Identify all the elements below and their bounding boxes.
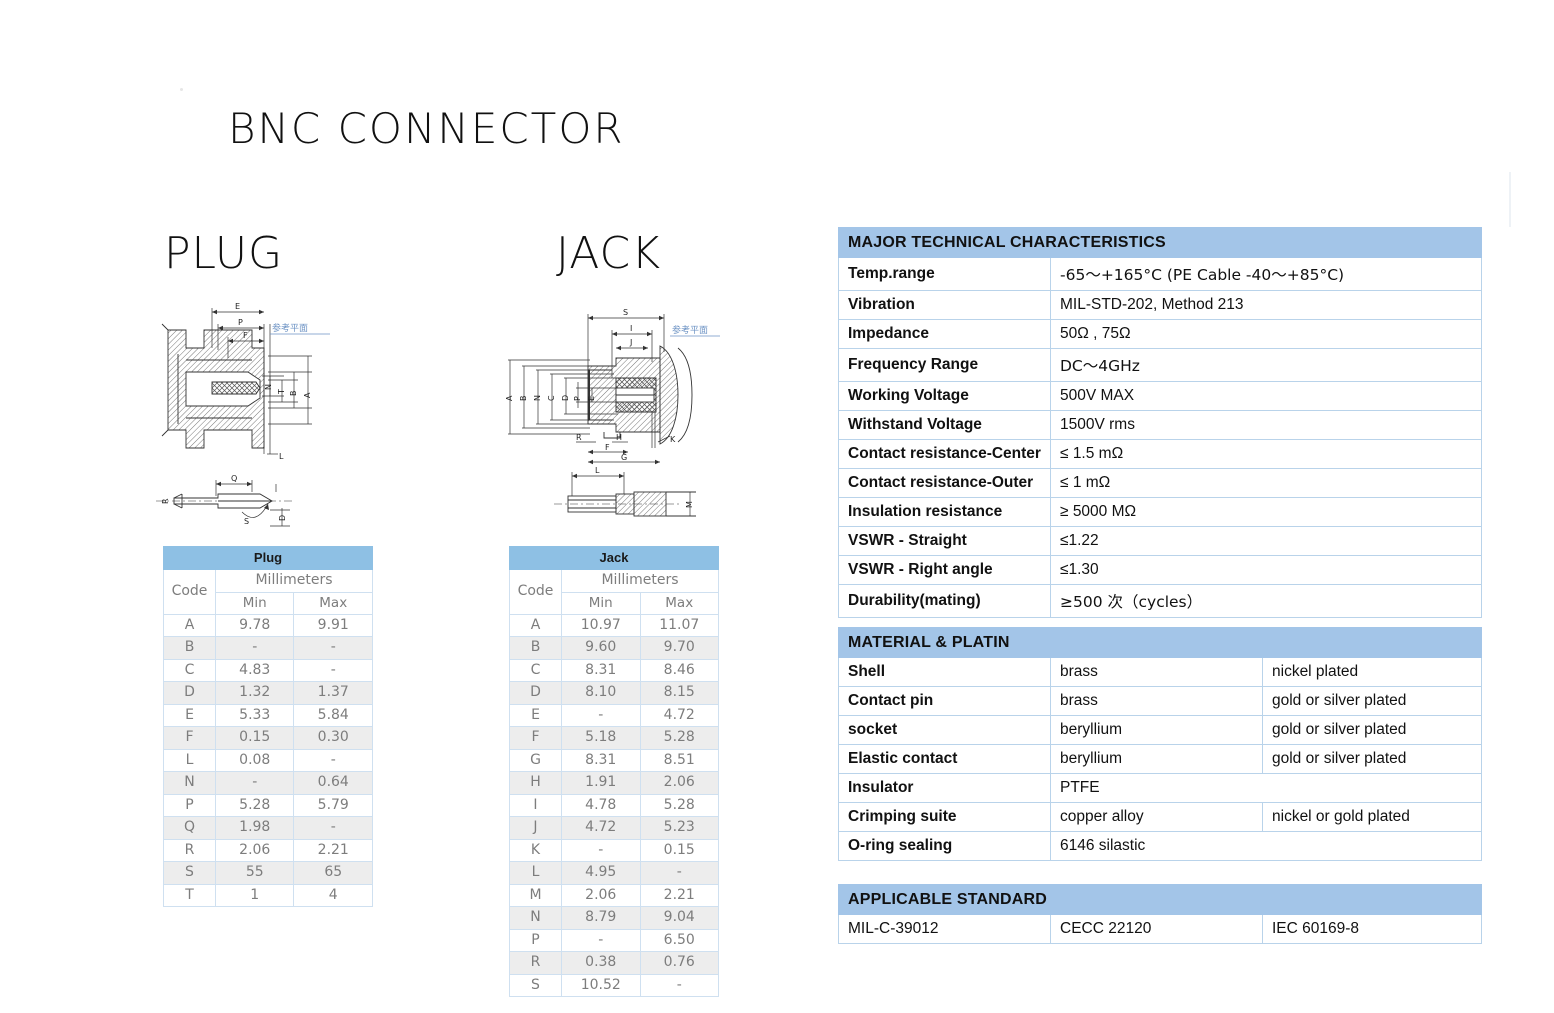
table-row: S5565: [164, 862, 373, 885]
material-value: copper alloy: [1051, 803, 1263, 832]
plug-cross-section-drawing: E P F L N T B A 参考平面: [152, 298, 352, 478]
jack-cell-max: 5.28: [640, 727, 719, 750]
jack-cell-min: 8.79: [562, 907, 641, 930]
material-row: Elastic contactberylliumgold or silver p…: [839, 745, 1482, 774]
table-row: A10.9711.07: [510, 614, 719, 637]
standard-value: CECC 22120: [1051, 915, 1263, 944]
jack-col-min: Min: [562, 592, 641, 614]
jack-cell-max: 8.46: [640, 659, 719, 682]
jack-cell-min: -: [562, 704, 641, 727]
plating-value: nickel or gold plated: [1263, 803, 1482, 832]
spec-row: Contact resistance-Center≤ 1.5 mΩ: [839, 440, 1482, 469]
plug-reference-plane-note: 参考平面: [272, 322, 308, 334]
jack-cell-code: A: [510, 614, 562, 637]
jack-col-unit: Millimeters: [562, 570, 719, 593]
plug-col-max: Max: [294, 592, 373, 614]
jack-cell-max: -: [640, 974, 719, 997]
plug-cell-code: A: [164, 614, 216, 637]
material-value: beryllium: [1051, 745, 1263, 774]
material-name: Shell: [839, 658, 1051, 687]
corner-artifact: [180, 88, 183, 91]
plug-col-unit: Millimeters: [216, 570, 373, 593]
table-row: B--: [164, 637, 373, 660]
material-name: socket: [839, 716, 1051, 745]
material-row: Contact pinbrassgold or silver plated: [839, 687, 1482, 716]
material-name: Crimping suite: [839, 803, 1051, 832]
spec-value: ≤ 1.5 mΩ: [1051, 440, 1482, 469]
jack-section-heading: JACK: [556, 228, 661, 279]
spec-row: Contact resistance-Outer≤ 1 mΩ: [839, 469, 1482, 498]
plug-pin-label-S: S: [244, 517, 249, 526]
plug-section-heading: PLUG: [164, 228, 283, 279]
material-row: socketberylliumgold or silver plated: [839, 716, 1482, 745]
jack-cell-max: 5.28: [640, 794, 719, 817]
plug-pin-label-D: D: [278, 515, 287, 521]
material-value: brass: [1051, 658, 1263, 687]
plug-dim-label-N: N: [264, 384, 273, 390]
spec-key: Frequency Range: [839, 349, 1051, 382]
standard-value: MIL-C-39012: [839, 915, 1051, 944]
jack-cell-code: G: [510, 749, 562, 772]
jack-cell-max: 11.07: [640, 614, 719, 637]
jack-cell-max: 0.76: [640, 952, 719, 975]
jack-cell-max: 2.21: [640, 884, 719, 907]
table-row: P5.285.79: [164, 794, 373, 817]
spec-key: Contact resistance-Outer: [839, 469, 1051, 498]
spec-value: DC～4GHz: [1051, 349, 1482, 382]
table-row: F5.185.28: [510, 727, 719, 750]
plug-dim-label-L: L: [279, 452, 284, 461]
plug-col-code: Code: [164, 570, 216, 614]
jack-cell-min: 1.91: [562, 772, 641, 795]
table-row: T14: [164, 884, 373, 907]
jack-table-title: Jack: [510, 547, 719, 570]
table-row: R2.062.21: [164, 839, 373, 862]
spec-value: MIL-STD-202, Method 213: [1051, 291, 1482, 320]
jack-cell-code: M: [510, 884, 562, 907]
plug-cell-max: -: [294, 817, 373, 840]
jack-cell-min: 5.18: [562, 727, 641, 750]
jack-cell-code: J: [510, 817, 562, 840]
jack-cell-code: E: [510, 704, 562, 727]
table-row: A9.789.91: [164, 614, 373, 637]
jack-cell-code: K: [510, 839, 562, 862]
plug-cell-code: P: [164, 794, 216, 817]
plating-value: gold or silver plated: [1263, 687, 1482, 716]
jack-cell-max: -: [640, 862, 719, 885]
standard-band-label: APPLICABLE STANDARD: [839, 885, 1482, 915]
spec-key: VSWR - Right angle: [839, 556, 1051, 585]
jack-socket-detail-drawing: L M: [540, 466, 710, 524]
spec-value: 1500V rms: [1051, 411, 1482, 440]
jack-cell-max: 2.06: [640, 772, 719, 795]
major-technical-characteristics-table: MAJOR TECHNICAL CHARACTERISTICS Temp.ran…: [838, 227, 1482, 618]
jack-dim-label-J: J: [629, 338, 632, 347]
plug-cell-max: 65: [294, 862, 373, 885]
spec-key: VSWR - Straight: [839, 527, 1051, 556]
plug-cell-max: 9.91: [294, 614, 373, 637]
material-row: O-ring sealing6146 silastic: [839, 832, 1482, 861]
jack-dim-label-I: I: [630, 324, 632, 333]
spec-row: VSWR - Right angle≤1.30: [839, 556, 1482, 585]
spec-value: -65～+165°C (PE Cable -40～+85°C): [1051, 258, 1482, 291]
plug-dim-label-A: A: [303, 392, 312, 398]
plug-col-min: Min: [216, 592, 294, 614]
jack-dim-label-C: C: [547, 395, 556, 401]
jack-cell-max: 4.72: [640, 704, 719, 727]
jack-cross-section-drawing: S I J R H F G K A B N C D P E 参考平面: [492, 302, 722, 470]
plug-cell-min: 5.28: [216, 794, 294, 817]
material-name: O-ring sealing: [839, 832, 1051, 861]
material-name: Contact pin: [839, 687, 1051, 716]
plug-cell-max: 1.37: [294, 682, 373, 705]
spec-value: ≥500 次（cycles）: [1051, 585, 1482, 618]
jack-cell-code: B: [510, 637, 562, 660]
table-row: E5.335.84: [164, 704, 373, 727]
material-band-label: MATERIAL & PLATIN: [839, 628, 1482, 658]
standard-value: IEC 60169-8: [1263, 915, 1482, 944]
jack-cell-min: -: [562, 839, 641, 862]
table-row: L0.08-: [164, 749, 373, 772]
spec-key: Durability(mating): [839, 585, 1051, 618]
plug-cell-code: F: [164, 727, 216, 750]
plug-cell-min: 0.08: [216, 749, 294, 772]
plug-cell-min: -: [216, 637, 294, 660]
spec-value: ≥ 5000 MΩ: [1051, 498, 1482, 527]
jack-cell-min: 10.97: [562, 614, 641, 637]
spec-row: Insulation resistance≥ 5000 MΩ: [839, 498, 1482, 527]
plug-cell-max: -: [294, 637, 373, 660]
plug-cell-min: 5.33: [216, 704, 294, 727]
table-row: S10.52-: [510, 974, 719, 997]
spec-row: Withstand Voltage1500V rms: [839, 411, 1482, 440]
jack-cell-max: 0.15: [640, 839, 719, 862]
jack-dim-label-A: A: [505, 395, 514, 401]
plug-cell-code: E: [164, 704, 216, 727]
plug-cell-code: T: [164, 884, 216, 907]
material-platin-table: MATERIAL & PLATIN Shellbrassnickel plate…: [838, 627, 1482, 861]
table-row: I4.785.28: [510, 794, 719, 817]
jack-cell-code: L: [510, 862, 562, 885]
standard-row: MIL-C-39012CECC 22120IEC 60169-8: [839, 915, 1482, 944]
jack-reference-plane-note: 参考平面: [672, 324, 708, 336]
jack-cell-min: 8.31: [562, 659, 641, 682]
plug-dim-label-E: E: [235, 302, 240, 311]
spec-row: VibrationMIL-STD-202, Method 213: [839, 291, 1482, 320]
jack-cell-min: 0.38: [562, 952, 641, 975]
jack-cell-max: 9.70: [640, 637, 719, 660]
jack-dimensions-table: Jack Code Millimeters Min Max A10.9711.0…: [509, 546, 719, 997]
material-row: InsulatorPTFE: [839, 774, 1482, 803]
plug-cell-code: Q: [164, 817, 216, 840]
plug-cell-max: 4: [294, 884, 373, 907]
table-row: J4.725.23: [510, 817, 719, 840]
plug-dim-label-T: T: [277, 389, 286, 395]
plug-pin-label-R: R: [161, 498, 170, 504]
spec-row: Impedance50Ω , 75Ω: [839, 320, 1482, 349]
jack-cell-min: 9.60: [562, 637, 641, 660]
spec-row: VSWR - Straight≤1.22: [839, 527, 1482, 556]
spec-value: ≤ 1 mΩ: [1051, 469, 1482, 498]
jack-dim-label-F: F: [605, 443, 610, 452]
spec-value: ≤1.30: [1051, 556, 1482, 585]
jack-table-body: A10.9711.07B9.609.70C8.318.46D8.108.15E-…: [510, 614, 719, 997]
plug-cell-min: 1.32: [216, 682, 294, 705]
jack-socket-label-M: M: [685, 501, 694, 508]
jack-col-code: Code: [510, 570, 562, 614]
jack-cell-min: 8.10: [562, 682, 641, 705]
plug-cell-code: C: [164, 659, 216, 682]
jack-cell-min: 4.72: [562, 817, 641, 840]
spec-key: Insulation resistance: [839, 498, 1051, 527]
spec-key: Temp.range: [839, 258, 1051, 291]
plug-cell-max: -: [294, 749, 373, 772]
plug-cell-max: -: [294, 659, 373, 682]
plug-cell-code: D: [164, 682, 216, 705]
plug-cell-min: 55: [216, 862, 294, 885]
material-row: Crimping suitecopper alloynickel or gold…: [839, 803, 1482, 832]
table-row: N-0.64: [164, 772, 373, 795]
material-row: Shellbrassnickel plated: [839, 658, 1482, 687]
table-row: K-0.15: [510, 839, 719, 862]
jack-cell-code: H: [510, 772, 562, 795]
jack-cell-code: S: [510, 974, 562, 997]
jack-dim-label-B: B: [519, 396, 528, 402]
guide-mark: [1509, 172, 1511, 227]
standard-table-body: MIL-C-39012CECC 22120IEC 60169-8: [839, 915, 1482, 944]
spec-value: 50Ω , 75Ω: [1051, 320, 1482, 349]
jack-dim-label-E: E: [587, 396, 596, 401]
plug-cell-max: 5.84: [294, 704, 373, 727]
jack-cell-code: F: [510, 727, 562, 750]
table-row: F0.150.30: [164, 727, 373, 750]
spec-row: Temp.range-65～+165°C (PE Cable -40～+85°C…: [839, 258, 1482, 291]
jack-dim-label-P: P: [573, 396, 582, 401]
table-row: H1.912.06: [510, 772, 719, 795]
material-value: beryllium: [1051, 716, 1263, 745]
table-row: P-6.50: [510, 929, 719, 952]
plug-cell-min: 9.78: [216, 614, 294, 637]
jack-cell-min: 4.78: [562, 794, 641, 817]
plug-cell-min: 4.83: [216, 659, 294, 682]
plug-cell-max: 2.21: [294, 839, 373, 862]
plug-cell-max: 0.64: [294, 772, 373, 795]
jack-cell-min: -: [562, 929, 641, 952]
plug-table-title: Plug: [164, 547, 373, 570]
plug-cell-min: 2.06: [216, 839, 294, 862]
table-row: G8.318.51: [510, 749, 719, 772]
spec-value: 500V MAX: [1051, 382, 1482, 411]
jack-cell-min: 8.31: [562, 749, 641, 772]
plug-cell-code: L: [164, 749, 216, 772]
material-value: brass: [1051, 687, 1263, 716]
jack-cell-code: R: [510, 952, 562, 975]
table-row: Q1.98-: [164, 817, 373, 840]
jack-cell-min: 4.95: [562, 862, 641, 885]
plug-cell-min: 1: [216, 884, 294, 907]
material-name: Insulator: [839, 774, 1051, 803]
spec-row: Working Voltage500V MAX: [839, 382, 1482, 411]
datasheet-page: BNC CONNECTOR PLUG JACK: [0, 0, 1554, 1013]
table-row: D1.321.37: [164, 682, 373, 705]
spec-key: Withstand Voltage: [839, 411, 1051, 440]
plug-cell-min: 0.15: [216, 727, 294, 750]
plug-dim-label-P: P: [238, 318, 243, 327]
jack-socket-label-L: L: [595, 466, 600, 475]
plug-cell-min: 1.98: [216, 817, 294, 840]
jack-cell-code: P: [510, 929, 562, 952]
plating-value: gold or silver plated: [1263, 745, 1482, 774]
jack-dim-label-D: D: [561, 395, 570, 401]
plug-cell-code: N: [164, 772, 216, 795]
spec-key: Working Voltage: [839, 382, 1051, 411]
table-row: L4.95-: [510, 862, 719, 885]
jack-dim-label-G: G: [621, 453, 627, 462]
plug-cell-code: S: [164, 862, 216, 885]
material-value: PTFE: [1051, 774, 1482, 803]
plating-value: gold or silver plated: [1263, 716, 1482, 745]
jack-dim-label-R: R: [576, 433, 582, 442]
page-title: BNC CONNECTOR: [228, 104, 625, 153]
jack-dim-label-H: H: [616, 433, 622, 442]
spec-row: Frequency RangeDC～4GHz: [839, 349, 1482, 382]
plug-cell-code: B: [164, 637, 216, 660]
plug-cell-min: -: [216, 772, 294, 795]
plug-cell-code: R: [164, 839, 216, 862]
spec-key: Vibration: [839, 291, 1051, 320]
major-band-label: MAJOR TECHNICAL CHARACTERISTICS: [839, 228, 1482, 258]
jack-dim-label-K: K: [670, 435, 676, 444]
plug-pin-label-Q: Q: [231, 474, 237, 483]
jack-cell-code: C: [510, 659, 562, 682]
table-row: R0.380.76: [510, 952, 719, 975]
jack-col-max: Max: [640, 592, 719, 614]
applicable-standard-table: APPLICABLE STANDARD MIL-C-39012CECC 2212…: [838, 884, 1482, 944]
plug-table-body: A9.789.91B--C4.83-D1.321.37E5.335.84F0.1…: [164, 614, 373, 907]
table-row: N8.799.04: [510, 907, 719, 930]
plug-cell-max: 0.30: [294, 727, 373, 750]
spec-key: Contact resistance-Center: [839, 440, 1051, 469]
jack-cell-code: N: [510, 907, 562, 930]
jack-cell-max: 5.23: [640, 817, 719, 840]
jack-cell-min: 10.52: [562, 974, 641, 997]
jack-cell-min: 2.06: [562, 884, 641, 907]
jack-cell-code: I: [510, 794, 562, 817]
major-table-body: Temp.range-65～+165°C (PE Cable -40～+85°C…: [839, 258, 1482, 618]
jack-dim-label-N: N: [533, 395, 542, 401]
spec-value: ≤1.22: [1051, 527, 1482, 556]
material-table-body: Shellbrassnickel platedContact pinbrassg…: [839, 658, 1482, 861]
material-value: 6146 silastic: [1051, 832, 1482, 861]
table-row: E-4.72: [510, 704, 719, 727]
jack-dim-label-S: S: [623, 308, 628, 317]
jack-cell-max: 9.04: [640, 907, 719, 930]
table-row: C4.83-: [164, 659, 373, 682]
jack-cell-max: 8.15: [640, 682, 719, 705]
spec-row: Durability(mating)≥500 次（cycles）: [839, 585, 1482, 618]
plug-dimensions-table: Plug Code Millimeters Min Max A9.789.91B…: [163, 546, 373, 907]
spec-key: Impedance: [839, 320, 1051, 349]
material-name: Elastic contact: [839, 745, 1051, 774]
plug-dim-label-F: F: [243, 331, 248, 340]
table-row: C8.318.46: [510, 659, 719, 682]
plug-pin-detail-drawing: Q R D S: [152, 470, 312, 540]
jack-cell-max: 6.50: [640, 929, 719, 952]
jack-cell-code: D: [510, 682, 562, 705]
jack-cell-max: 8.51: [640, 749, 719, 772]
table-row: D8.108.15: [510, 682, 719, 705]
plating-value: nickel plated: [1263, 658, 1482, 687]
table-row: B9.609.70: [510, 637, 719, 660]
table-row: M2.062.21: [510, 884, 719, 907]
plug-dim-label-B: B: [289, 391, 298, 397]
plug-cell-max: 5.79: [294, 794, 373, 817]
